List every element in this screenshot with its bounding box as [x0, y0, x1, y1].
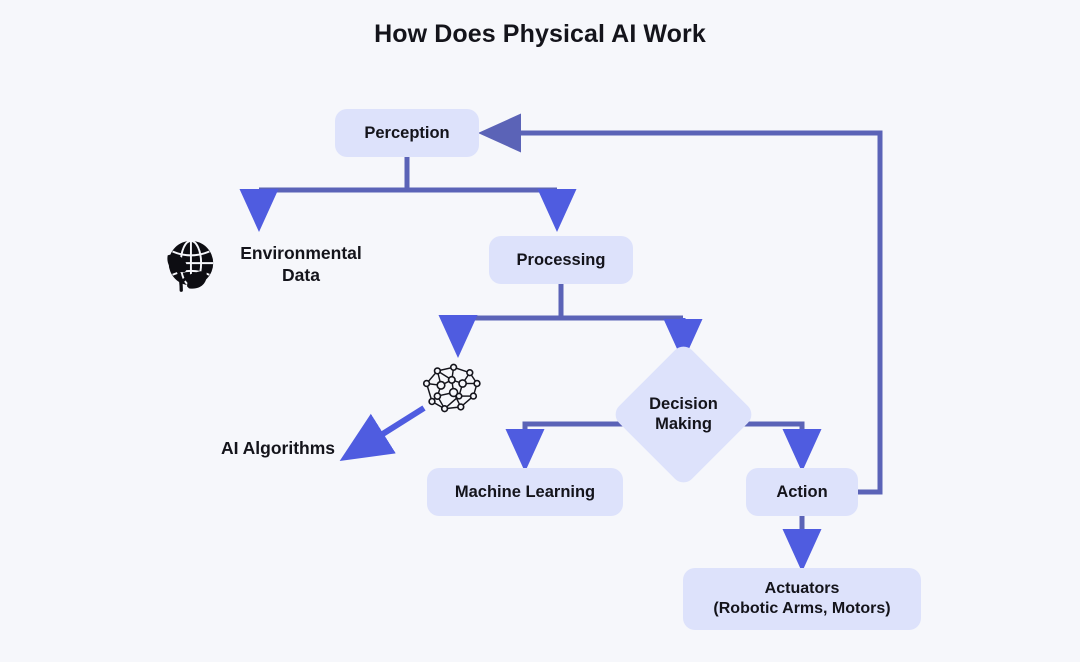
- node-decision-making[interactable]: Decision Making: [632, 363, 735, 466]
- node-processing-label: Processing: [517, 250, 606, 270]
- neural-brain-icon: [414, 360, 486, 416]
- edge-processing-split: [458, 284, 683, 340]
- edge-decision-to-ml: [525, 424, 634, 450]
- label-environmental-data-line1: Environmental: [222, 243, 380, 265]
- label-environmental-data-line2: Data: [222, 265, 380, 287]
- label-ai-algorithms: AI Algorithms: [203, 438, 353, 460]
- node-actuators-label-line1: Actuators: [713, 579, 890, 599]
- node-actuators-label-line2: (Robotic Arms, Motors): [713, 599, 890, 619]
- node-machine-learning-label: Machine Learning: [455, 482, 595, 502]
- node-action-label: Action: [776, 482, 827, 502]
- edge-perception-split: [259, 157, 557, 210]
- node-decision-making-label-line1: Decision: [649, 395, 718, 415]
- node-actuators[interactable]: Actuators (Robotic Arms, Motors): [683, 568, 921, 630]
- page-title: How Does Physical AI Work: [0, 20, 1080, 49]
- globe-leaf-icon: [158, 236, 220, 298]
- edge-layer: [0, 0, 1080, 662]
- node-action[interactable]: Action: [746, 468, 858, 516]
- diagram-canvas: How Does Physical AI Work: [0, 0, 1080, 662]
- node-perception-label: Perception: [364, 123, 449, 143]
- node-processing[interactable]: Processing: [489, 236, 633, 284]
- node-decision-making-label: Decision Making: [620, 363, 747, 466]
- node-perception[interactable]: Perception: [335, 109, 479, 157]
- node-machine-learning[interactable]: Machine Learning: [427, 468, 623, 516]
- node-decision-making-label-line2: Making: [649, 415, 718, 435]
- label-environmental-data: Environmental Data: [222, 243, 380, 287]
